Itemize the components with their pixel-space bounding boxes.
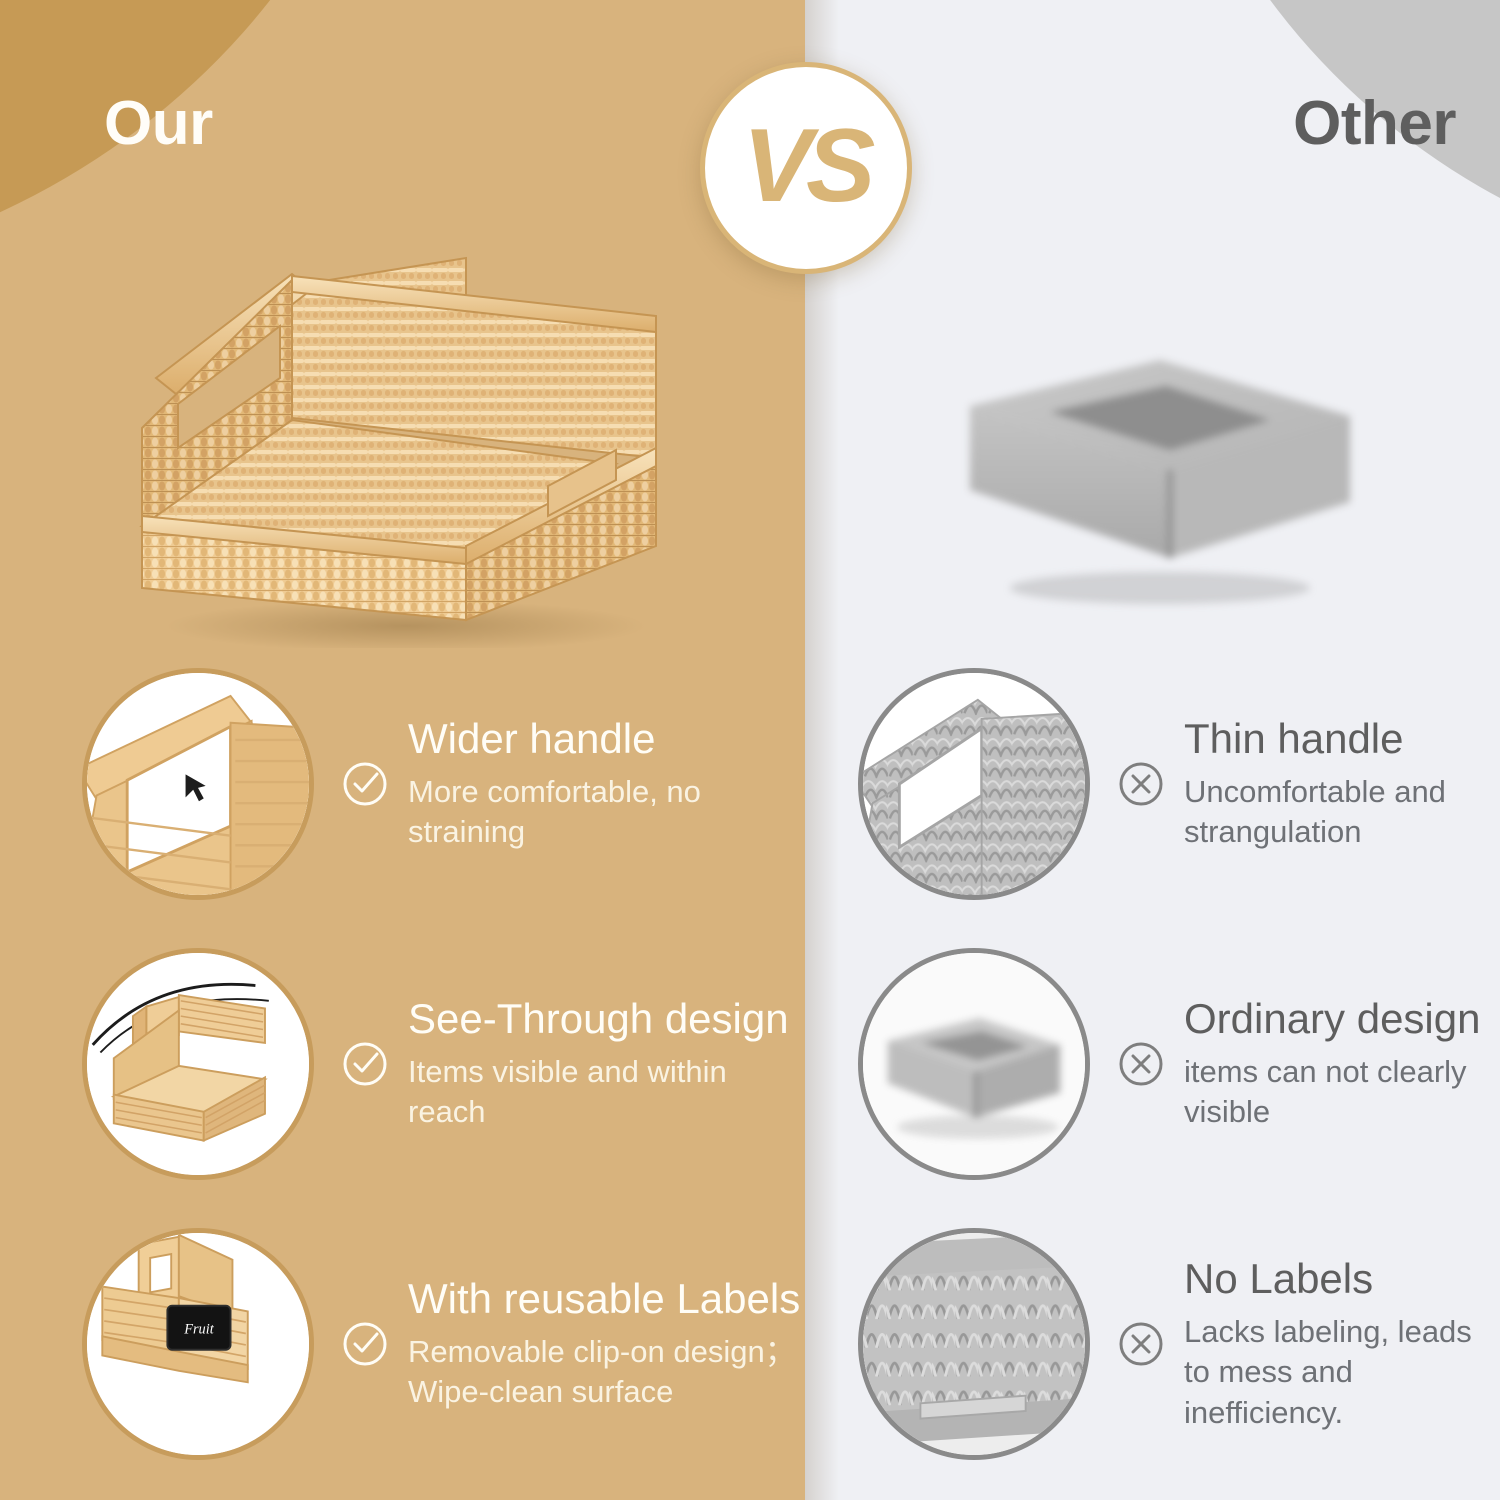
x-circle-icon — [1116, 759, 1166, 809]
ours-feature-row-2: See-Through design Items visible and wit… — [82, 948, 802, 1180]
comparison-infographic: Our Other VS — [0, 0, 1500, 1500]
thumb-gray-bin-weave-closeup — [858, 1228, 1090, 1460]
vs-label: VS — [743, 114, 870, 218]
ours-hero-image — [96, 228, 696, 648]
feature-desc: Removable clip-on design；Wipe-clean surf… — [408, 1332, 802, 1413]
check-circle-icon — [340, 759, 390, 809]
other-feature-row-1: Thin handle Uncomfortable and strangulat… — [858, 668, 1498, 900]
feature-text: Ordinary design items can not clearly vi… — [1184, 995, 1498, 1132]
ours-feature-row-1: Wider handle More comfortable, no strain… — [82, 668, 802, 900]
vs-badge: VS — [700, 62, 912, 274]
feature-title: Ordinary design — [1184, 995, 1498, 1044]
other-title: Other — [1293, 88, 1456, 159]
thumb-basket-open-front — [82, 948, 314, 1180]
thumb-basket-handle-closeup — [82, 668, 314, 900]
feature-desc: items can not clearly visible — [1184, 1052, 1498, 1133]
feature-text: With reusable Labels Removable clip-on d… — [408, 1275, 802, 1412]
check-circle-icon — [340, 1039, 390, 1089]
thumb-gray-bin-handle-closeup — [858, 668, 1090, 900]
other-feature-row-2: Ordinary design items can not clearly vi… — [858, 948, 1498, 1180]
thumb-basket-with-label: Fruit — [82, 1228, 314, 1460]
other-feature-row-3: No Labels Lacks labeling, leads to mess … — [858, 1228, 1498, 1460]
ours-title: Our — [104, 88, 213, 159]
ours-feature-row-3: Fruit With reusable Labels Removable cli… — [82, 1228, 802, 1460]
feature-text: Thin handle Uncomfortable and strangulat… — [1184, 715, 1498, 852]
feature-desc: Lacks labeling, leads to mess and ineffi… — [1184, 1312, 1498, 1433]
feature-text: No Labels Lacks labeling, leads to mess … — [1184, 1255, 1498, 1433]
feature-title: See-Through design — [408, 995, 802, 1044]
check-circle-icon — [340, 1319, 390, 1369]
feature-title: No Labels — [1184, 1255, 1498, 1304]
x-circle-icon — [1116, 1039, 1166, 1089]
thumb-gray-bin-front — [858, 948, 1090, 1180]
feature-desc: Items visible and within reach — [408, 1052, 802, 1133]
feature-desc: More comfortable, no straining — [408, 772, 802, 853]
feature-text: See-Through design Items visible and wit… — [408, 995, 802, 1132]
feature-desc: Uncomfortable and strangulation — [1184, 772, 1498, 853]
feature-title: With reusable Labels — [408, 1275, 802, 1324]
feature-text: Wider handle More comfortable, no strain… — [408, 715, 802, 852]
feature-title: Thin handle — [1184, 715, 1498, 764]
other-hero-image — [930, 320, 1380, 620]
x-circle-icon — [1116, 1319, 1166, 1369]
chalk-label-text: Fruit — [183, 1321, 215, 1337]
feature-title: Wider handle — [408, 715, 802, 764]
